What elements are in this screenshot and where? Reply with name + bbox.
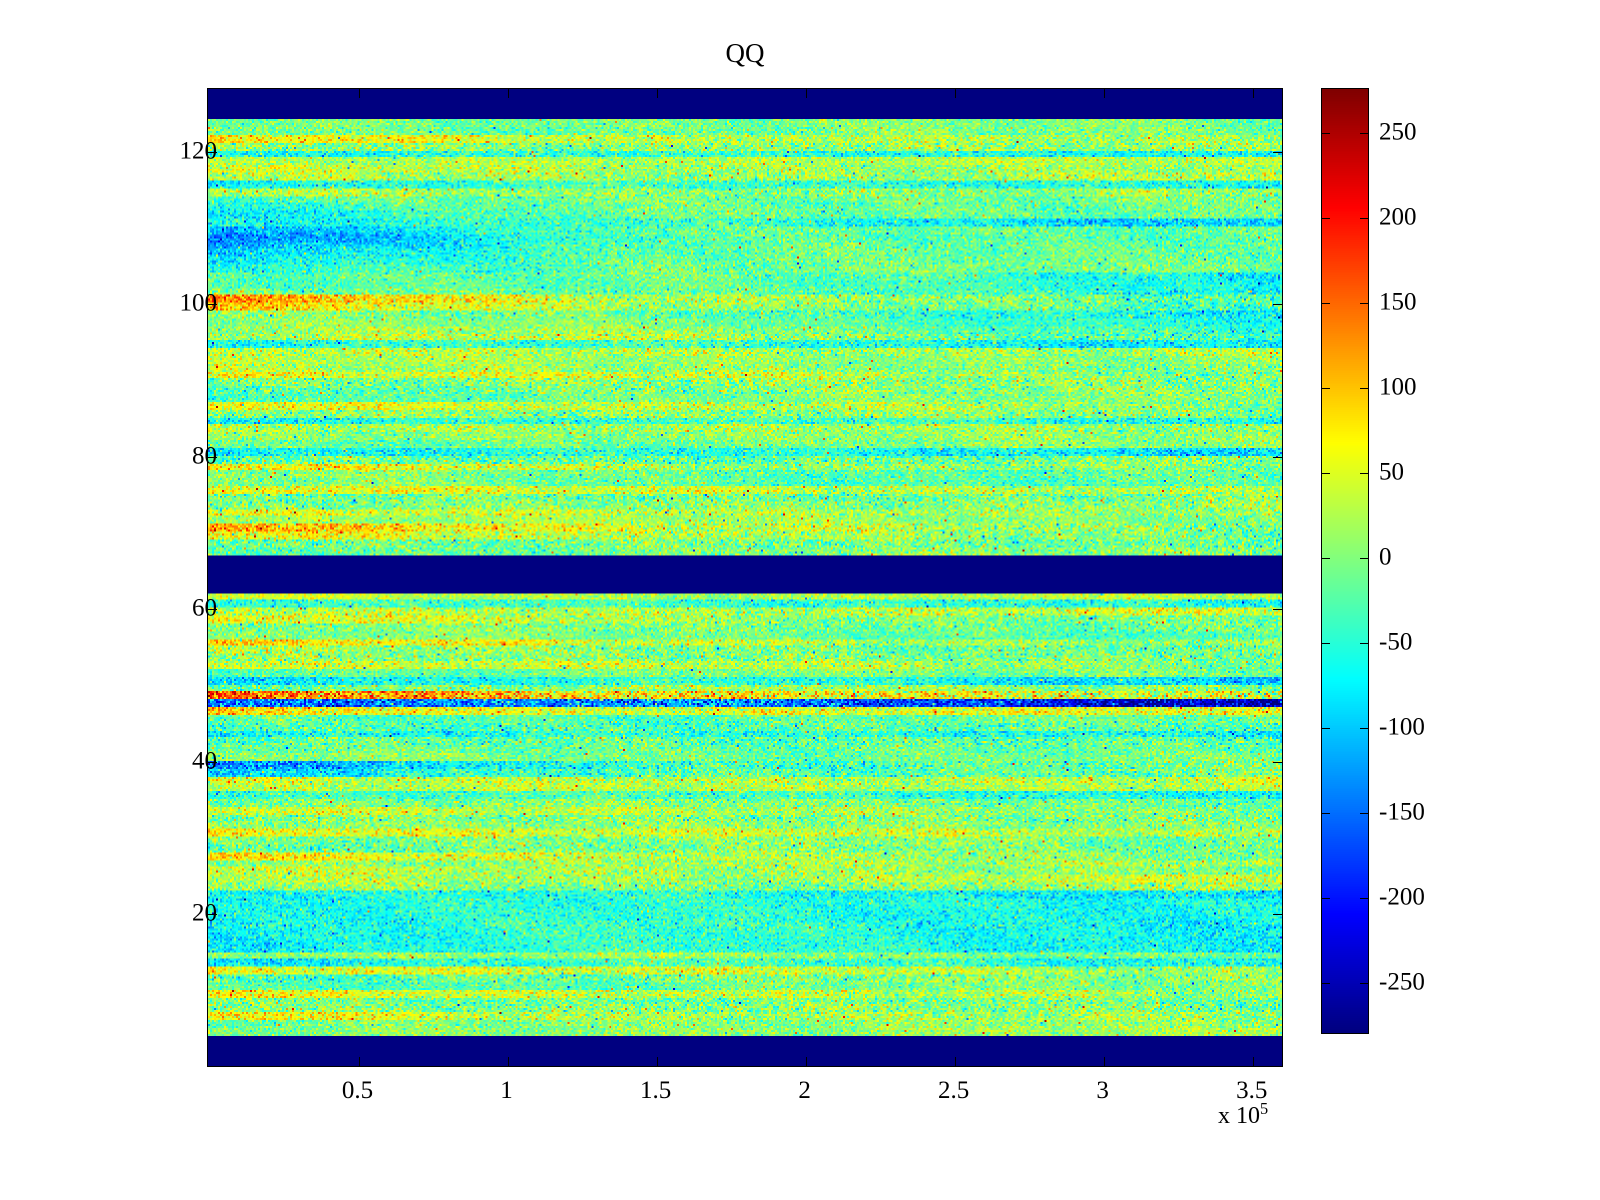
y-tick-label: 40: [192, 748, 217, 773]
colorbar-tick-mark: [1360, 303, 1368, 304]
colorbar-tick-label: 150: [1379, 289, 1417, 314]
colorbar-tick-mark: [1360, 898, 1368, 899]
y-tick-label: 120: [180, 138, 218, 163]
x-tick-mark: [657, 89, 658, 98]
x-tick-mark: [806, 1057, 807, 1066]
colorbar-tick-mark: [1322, 388, 1330, 389]
x-exponent-power: 5: [1260, 1099, 1268, 1118]
colorbar-tick-mark: [1360, 473, 1368, 474]
y-tick-mark: [1273, 762, 1282, 763]
y-tick-mark: [1273, 609, 1282, 610]
x-tick-label: 2: [798, 1078, 811, 1103]
colorbar-gradient: [1322, 89, 1368, 1033]
colorbar-tick-mark: [1322, 303, 1330, 304]
x-tick-label: 0.5: [342, 1078, 373, 1103]
x-tick-mark: [508, 89, 509, 98]
colorbar-tick-mark: [1322, 983, 1330, 984]
heatmap-axes[interactable]: [207, 88, 1283, 1067]
x-tick-label: 2.5: [938, 1078, 969, 1103]
y-tick-mark: [1273, 152, 1282, 153]
colorbar-tick-mark: [1322, 728, 1330, 729]
x-tick-mark: [657, 1057, 658, 1066]
colorbar-tick-mark: [1360, 218, 1368, 219]
colorbar-tick-mark: [1360, 813, 1368, 814]
x-tick-mark: [955, 89, 956, 98]
x-tick-label: 3: [1096, 1078, 1109, 1103]
y-tick-mark: [1273, 304, 1282, 305]
y-tick-label: 80: [192, 443, 217, 468]
x-tick-mark: [955, 1057, 956, 1066]
colorbar-tick-label: -200: [1379, 884, 1425, 909]
x-tick-mark: [359, 89, 360, 98]
colorbar-tick-mark: [1322, 133, 1330, 134]
y-tick-label: 60: [192, 596, 217, 621]
colorbar-tick-label: -150: [1379, 799, 1425, 824]
x-axis-exponent-label: x 105: [1218, 1104, 1268, 1128]
figure-canvas: QQ 20406080100120 0.511.522.533.5 x 105 …: [0, 0, 1600, 1200]
x-tick-label: 1: [500, 1078, 513, 1103]
colorbar-tick-mark: [1360, 983, 1368, 984]
colorbar-tick-label: 0: [1379, 544, 1392, 569]
colorbar-tick-label: 50: [1379, 459, 1404, 484]
colorbar-tick-mark: [1322, 218, 1330, 219]
colorbar-tick-mark: [1360, 133, 1368, 134]
colorbar-tick-mark: [1322, 558, 1330, 559]
colorbar-tick-mark: [1322, 898, 1330, 899]
colorbar-tick-mark: [1322, 813, 1330, 814]
y-tick-mark: [1273, 914, 1282, 915]
x-tick-mark: [1104, 89, 1105, 98]
heatmap-image: [208, 89, 1282, 1066]
colorbar-tick-mark: [1360, 728, 1368, 729]
colorbar-tick-label: -50: [1379, 629, 1412, 654]
x-tick-mark: [1253, 89, 1254, 98]
x-tick-mark: [1253, 1057, 1254, 1066]
colorbar-tick-label: 250: [1379, 119, 1417, 144]
x-tick-mark: [1104, 1057, 1105, 1066]
colorbar-tick-mark: [1360, 558, 1368, 559]
colorbar-tick-label: 100: [1379, 374, 1417, 399]
colorbar-tick-label: 200: [1379, 204, 1417, 229]
colorbar[interactable]: [1321, 88, 1369, 1034]
colorbar-tick-mark: [1360, 643, 1368, 644]
colorbar-tick-mark: [1322, 473, 1330, 474]
colorbar-tick-label: -100: [1379, 714, 1425, 739]
colorbar-tick-mark: [1322, 643, 1330, 644]
colorbar-tick-label: -250: [1379, 969, 1425, 994]
x-tick-label: 1.5: [640, 1078, 671, 1103]
colorbar-tick-mark: [1360, 388, 1368, 389]
page-title: QQ: [207, 40, 1283, 67]
x-tick-mark: [359, 1057, 360, 1066]
y-tick-label: 20: [192, 901, 217, 926]
x-exponent-text: x 10: [1218, 1103, 1260, 1129]
x-tick-mark: [508, 1057, 509, 1066]
y-tick-label: 100: [180, 291, 218, 316]
x-tick-mark: [806, 89, 807, 98]
y-tick-mark: [1273, 457, 1282, 458]
